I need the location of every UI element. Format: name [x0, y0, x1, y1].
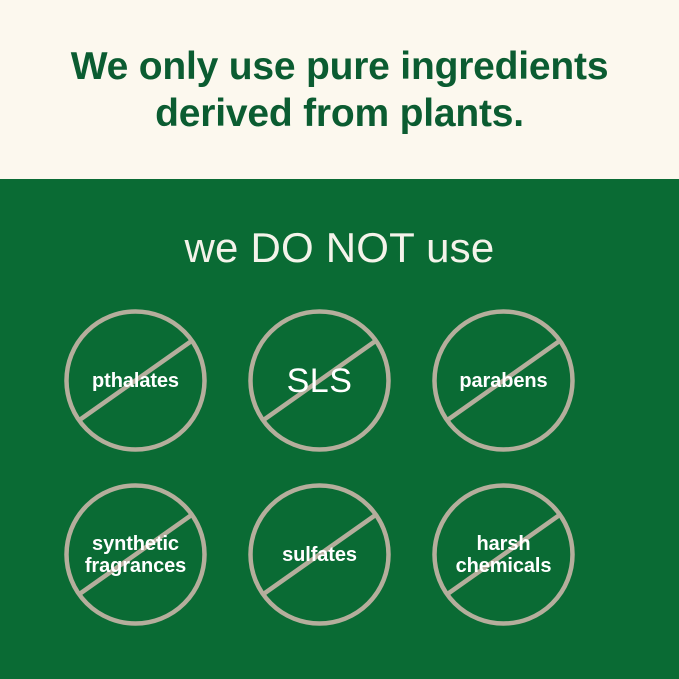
panel-title: we DO NOT use	[0, 224, 679, 272]
excluded-ingredient-badge: parabens	[432, 309, 575, 452]
excluded-ingredients-grid: pthalates SLS parabens	[64, 309, 616, 626]
prohibition-icon	[432, 309, 575, 452]
excluded-ingredient-badge: SLS	[248, 309, 391, 452]
prohibition-icon	[248, 483, 391, 626]
prohibition-icon	[64, 483, 207, 626]
ingredient-claims-poster: We only use pure ingredients derived fro…	[0, 0, 679, 679]
prohibition-icon	[248, 309, 391, 452]
excluded-ingredient-badge: sulfates	[248, 483, 391, 626]
prohibition-icon	[64, 309, 207, 452]
do-not-use-panel: we DO NOT use pthalates SLS	[0, 179, 679, 679]
headline-band: We only use pure ingredients derived fro…	[0, 0, 679, 179]
excluded-ingredient-badge: synthetic fragrances	[64, 483, 207, 626]
excluded-ingredient-badge: pthalates	[64, 309, 207, 452]
excluded-ingredient-badge: harsh chemicals	[432, 483, 575, 626]
prohibition-icon	[432, 483, 575, 626]
page-title: We only use pure ingredients derived fro…	[47, 43, 633, 137]
